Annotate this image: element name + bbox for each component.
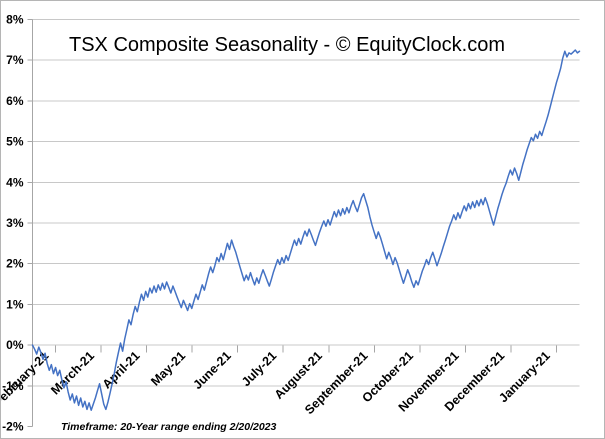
x-axis-tick-labels: February-21March-21April-21May-21June-21… <box>1 349 553 417</box>
y-axis-tick-label: -2% <box>2 420 24 434</box>
x-axis-tick-label: April-21 <box>100 349 143 392</box>
y-axis-tick-label: 3% <box>6 216 24 230</box>
chart-footnote: Timeframe: 20-Year range ending 2/20/202… <box>61 421 277 433</box>
x-axis-tick-label: July-21 <box>239 349 279 389</box>
y-axis-tick-label: 5% <box>6 135 24 149</box>
y-axis-tick-label: 4% <box>6 175 24 189</box>
seasonality-chart-container: 8%7%6%5%4%3%2%1%0%-1%-2% February-21Marc… <box>0 0 605 439</box>
y-axis-tick-label: 7% <box>6 53 24 67</box>
y-axis-tick-label: 2% <box>6 257 24 271</box>
chart-canvas: 8%7%6%5%4%3%2%1%0%-1%-2% February-21Marc… <box>1 1 605 439</box>
chart-title: TSX Composite Seasonality - © EquityCloc… <box>69 34 505 56</box>
y-axis-tick-label: 1% <box>6 297 24 311</box>
y-axis-tick-label: 0% <box>6 338 24 352</box>
x-axis-tick-label: May-21 <box>148 349 188 389</box>
y-axis-tick-label: 8% <box>6 13 24 27</box>
y-axis-tick-label: 6% <box>6 94 24 108</box>
x-axis-tick-label: March-21 <box>48 349 97 398</box>
gridlines <box>33 20 580 386</box>
